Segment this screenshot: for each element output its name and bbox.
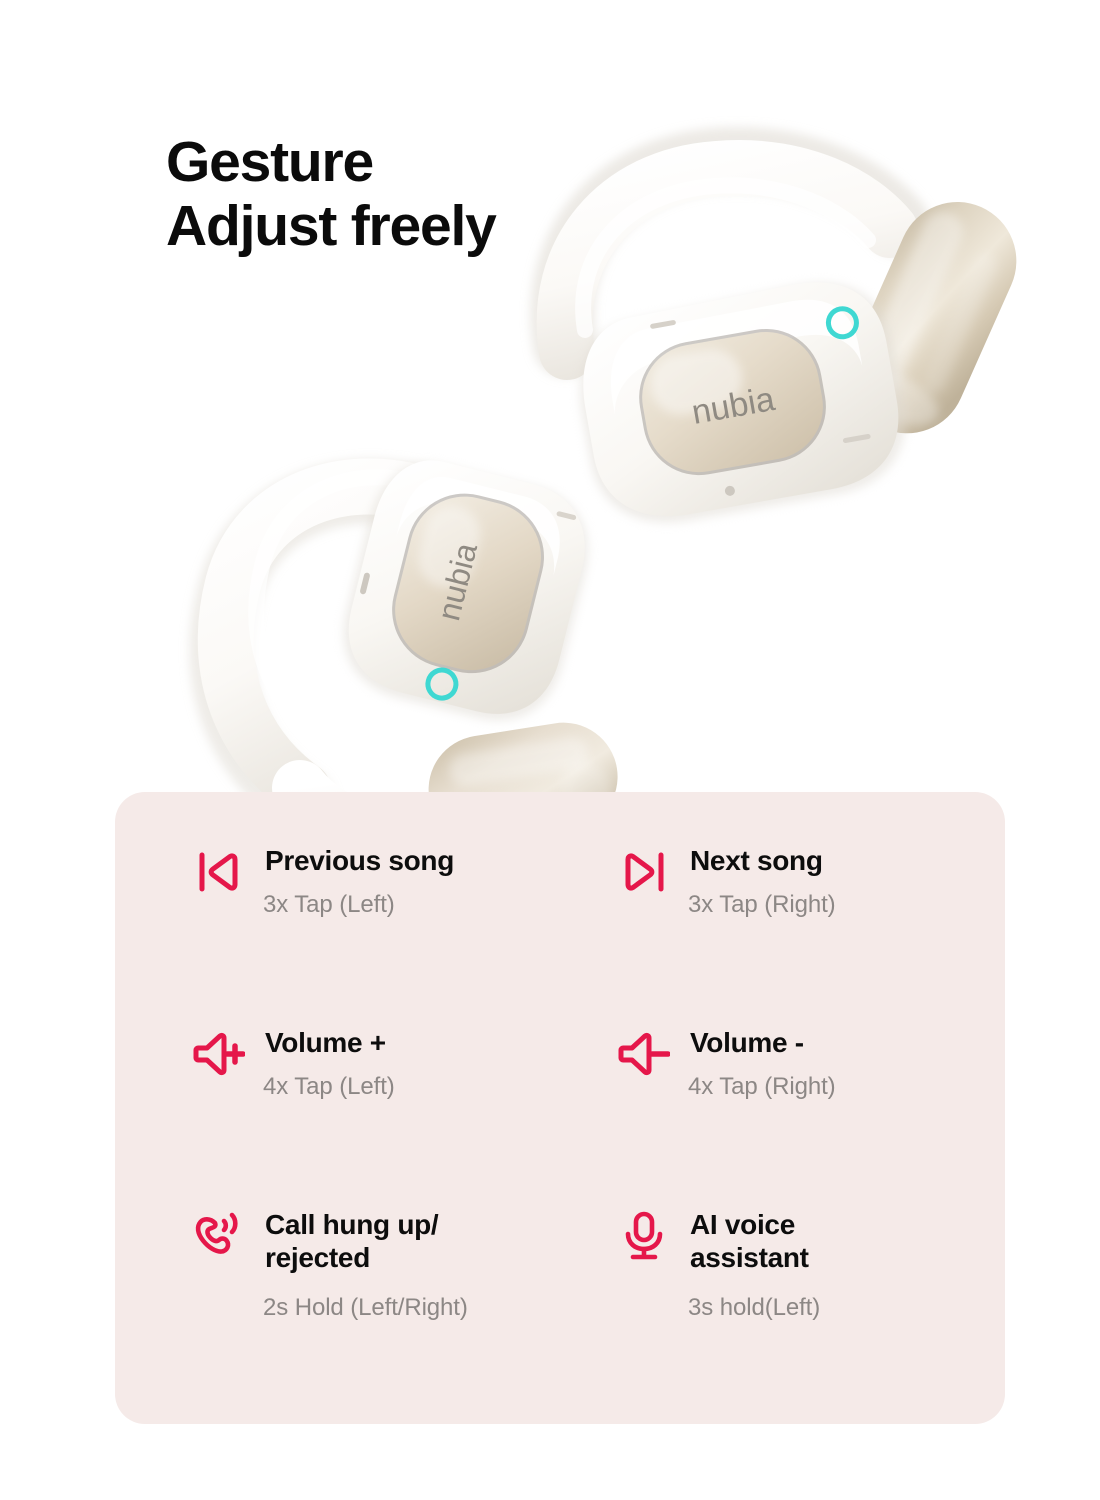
gesture-title: Volume +: [265, 1026, 395, 1059]
gesture-title: AI voice assistant: [690, 1208, 820, 1274]
gesture-sub: 2s Hold (Left/Right): [263, 1294, 468, 1322]
gesture-item-volume-down[interactable]: Volume - 4x Tap (Right): [560, 1026, 1005, 1208]
previous-track-icon: [193, 846, 245, 898]
page-title: Gesture Adjust freely: [166, 131, 496, 259]
gesture-item-previous-song[interactable]: Previous song 3x Tap (Left): [115, 844, 560, 1026]
next-track-icon: [618, 846, 670, 898]
gesture-item-volume-up[interactable]: Volume + 4x Tap (Left): [115, 1026, 560, 1208]
volume-up-icon: [193, 1028, 245, 1080]
earbud-lower-left: nubia: [221, 448, 625, 851]
microphone-icon: [618, 1210, 670, 1262]
page-title-line1: Gesture: [166, 130, 373, 194]
gesture-item-call-hangup[interactable]: Call hung up/ rejected 2s Hold (Left/Rig…: [115, 1208, 560, 1390]
page-title-line2: Adjust freely: [166, 194, 496, 258]
gesture-sub: 3x Tap (Right): [688, 891, 836, 919]
gesture-sub: 4x Tap (Left): [263, 1073, 395, 1101]
phone-hangup-icon: [193, 1210, 245, 1262]
gesture-item-ai-voice-assistant[interactable]: AI voice assistant 3s hold(Left): [560, 1208, 1005, 1390]
gesture-title: Call hung up/ rejected: [265, 1208, 468, 1274]
earbud-upper-right: nubia: [562, 159, 1035, 535]
gesture-title: Next song: [690, 844, 836, 877]
gesture-card: Previous song 3x Tap (Left) Next song 3x…: [115, 792, 1005, 1424]
gesture-sub: 3x Tap (Left): [263, 891, 454, 919]
gesture-title: Volume -: [690, 1026, 836, 1059]
volume-down-icon: [618, 1028, 670, 1080]
page-root: Gesture Adjust freely: [0, 0, 1100, 1500]
product-photo: nubia: [0, 0, 1100, 880]
gesture-sub: 4x Tap (Right): [688, 1073, 836, 1101]
gesture-title: Previous song: [265, 844, 454, 877]
gesture-item-next-song[interactable]: Next song 3x Tap (Right): [560, 844, 1005, 1026]
gesture-sub: 3s hold(Left): [688, 1294, 820, 1322]
gesture-grid: Previous song 3x Tap (Left) Next song 3x…: [115, 792, 1005, 1424]
